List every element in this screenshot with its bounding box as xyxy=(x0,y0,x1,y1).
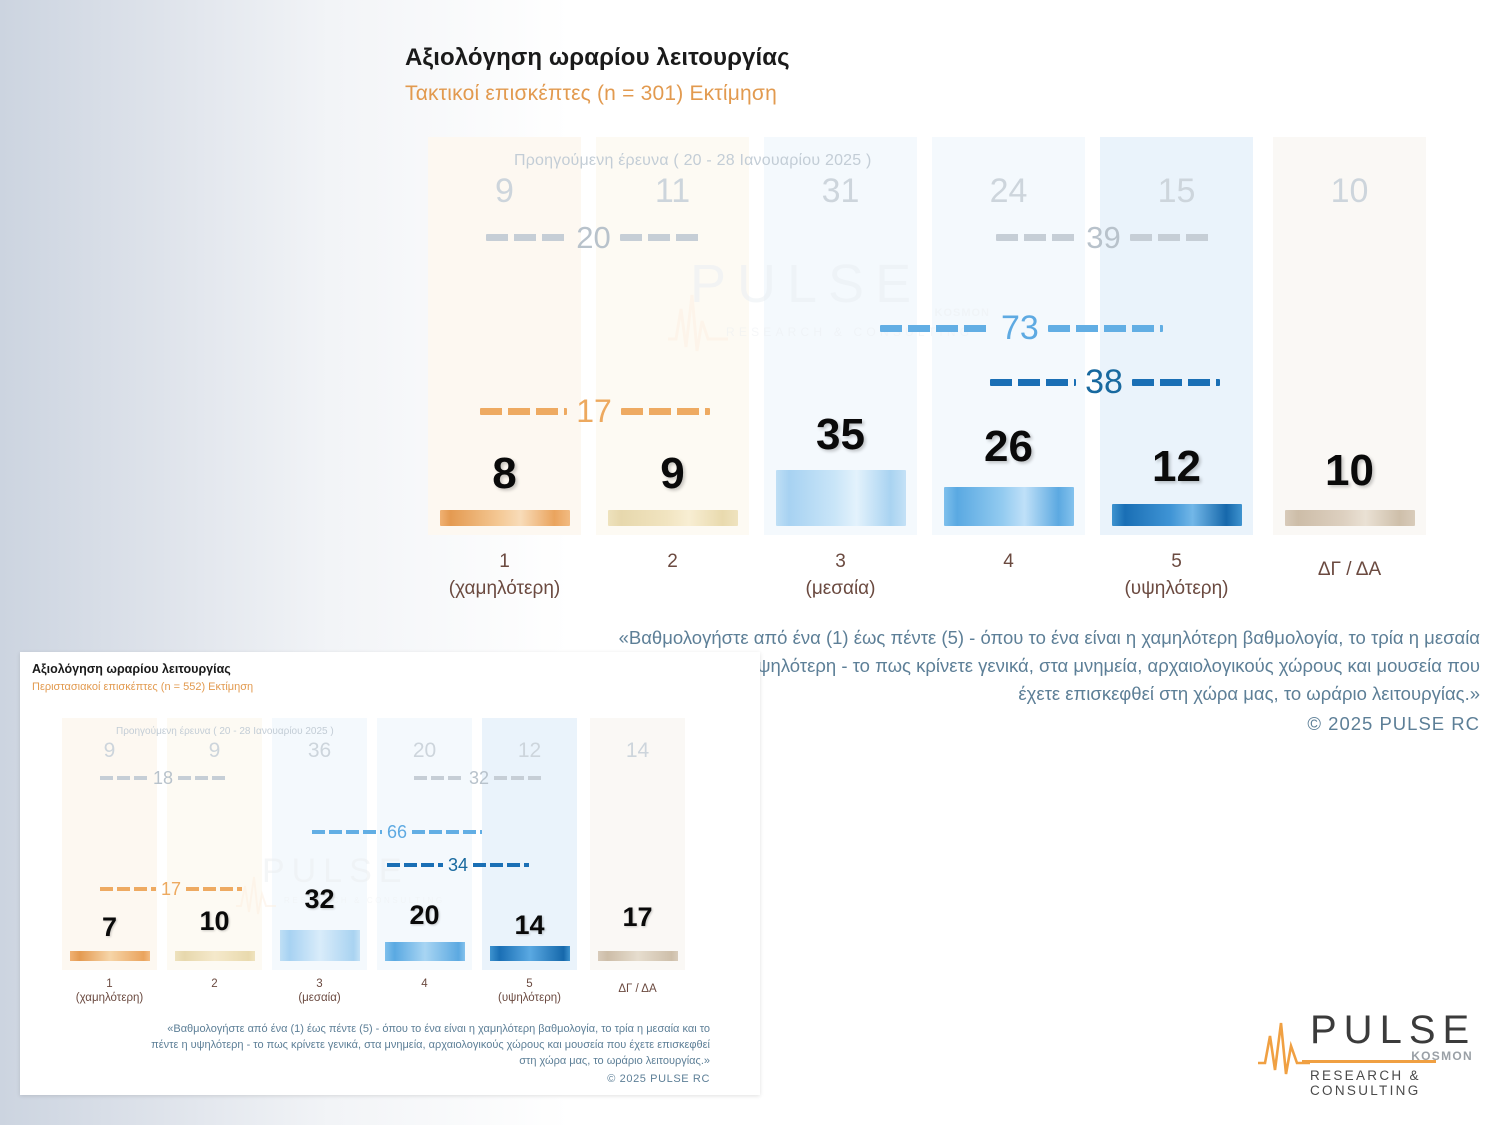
slide-thumbnail-inset[interactable]: Αξιολόγηση ωραρίου λειτουργίας Περιστασι… xyxy=(20,652,760,1095)
pulse-wave-icon xyxy=(1258,1018,1310,1080)
inset-previous-bracket-1-2: 18 xyxy=(100,769,230,787)
x-axis-label-3-number: 3 xyxy=(835,551,846,572)
inset-x-axis-label-4-number: 4 xyxy=(421,978,427,990)
previous-bracket-4-5: 39 xyxy=(996,222,1211,253)
page-title: Αξιολόγηση ωραρίου λειτουργίας xyxy=(405,44,790,72)
inset-value-label-3: 32 xyxy=(272,886,367,913)
inset-previous-survey-caption: Προηγούμενη έρευνα ( 20 - 28 Ιανουαρίου … xyxy=(116,726,334,737)
inset-chart-plot-area: PULSE RESEARCH & CONSULTING Προηγούμενη … xyxy=(62,718,714,970)
value-label-5: 12 xyxy=(1100,445,1253,489)
inset-value-label-1: 7 xyxy=(62,914,157,941)
x-axis-label-2-number: 2 xyxy=(667,551,678,572)
bar-5 xyxy=(1112,504,1242,526)
previous-value-1: 9 xyxy=(428,172,581,211)
inset-value-label-2: 10 xyxy=(167,908,262,935)
inset-x-axis-label-6: ΔΓ / ΔΑ xyxy=(590,982,685,996)
previous-value-2: 11 xyxy=(596,172,749,211)
inset-bar-5 xyxy=(490,946,570,961)
inset-x-axis-label-3: 3 (μεσαία) xyxy=(272,977,367,1006)
inset-x-axis-label-5-sub: (υψηλότερη) xyxy=(482,991,577,1005)
x-axis-label-1-sub: (χαμηλότερη) xyxy=(428,577,581,601)
inset-x-axis-label-5: 5 (υψηλότερη) xyxy=(482,977,577,1006)
inset-bar-3 xyxy=(280,930,360,961)
bar-6 xyxy=(1285,510,1415,526)
inset-bar-2 xyxy=(175,951,255,961)
bracket-73-value: 73 xyxy=(992,311,1048,345)
inset-previous-bracket-4-5-value: 32 xyxy=(464,769,494,787)
inset-x-axis-label-3-sub: (μεσαία) xyxy=(272,991,367,1005)
logo-kosmon: KOSMON xyxy=(1411,1049,1473,1063)
x-axis-label-5-sub: (υψηλότερη) xyxy=(1100,577,1253,601)
bracket-73-cols-3-5: 73 xyxy=(880,311,1165,345)
inset-bracket-34-cols-4-5: 34 xyxy=(387,856,535,874)
previous-value-5: 15 xyxy=(1100,172,1253,211)
inset-previous-bracket-4-5: 32 xyxy=(414,769,548,787)
bracket-17-value: 17 xyxy=(567,395,621,427)
inset-x-axis-label-1: 1 (χαμηλότερη) xyxy=(62,977,157,1006)
inset-question-text-block: «Βαθμολογήστε από ένα (1) έως πέντε (5) … xyxy=(150,1022,710,1088)
inset-x-axis-label-3-number: 3 xyxy=(316,978,322,990)
previous-bracket-1-2: 20 xyxy=(486,222,701,253)
previous-value-4: 24 xyxy=(932,172,1085,211)
inset-bracket-17-cols-1-2: 17 xyxy=(100,880,248,898)
inset-bar-1 xyxy=(70,951,150,961)
inset-x-axis-label-1-number: 1 xyxy=(106,978,112,990)
previous-bracket-1-2-value: 20 xyxy=(567,222,619,253)
inset-bar-6 xyxy=(598,951,678,961)
inset-x-axis-label-1-sub: (χαμηλότερη) xyxy=(62,991,157,1005)
title-block: Αξιολόγηση ωραρίου λειτουργίας Τακτικοί … xyxy=(405,44,790,106)
x-axis-label-1-number: 1 xyxy=(499,551,510,572)
pulse-logo: PULSE KOSMON RESEARCH & CONSULTING xyxy=(1258,1008,1473,1090)
inset-copyright-text: © 2025 PULSE RC xyxy=(150,1072,710,1088)
inset-title: Αξιολόγηση ωραρίου λειτουργίας xyxy=(32,662,231,676)
previous-survey-caption: Προηγούμενη έρευνα ( 20 - 28 Ιανουαρίου … xyxy=(514,152,872,170)
inset-x-axis-label-5-number: 5 xyxy=(526,978,532,990)
inset-previous-bracket-1-2-value: 18 xyxy=(148,769,178,787)
inset-x-axis-label-2-number: 2 xyxy=(211,978,217,990)
bar-2 xyxy=(608,510,738,526)
inset-bracket-17-value: 17 xyxy=(156,880,186,898)
bar-4 xyxy=(944,487,1074,526)
chart-plot-area: PULSE KOSMON RESEARCH & CONSULTING Προηγ… xyxy=(428,137,1471,535)
previous-value-3: 31 xyxy=(764,172,917,211)
inset-subtitle: Περιστασιακοί επισκέπτες (n = 552) Εκτίμ… xyxy=(32,681,253,693)
inset-x-axis-label-6-number: ΔΓ / ΔΑ xyxy=(618,983,656,995)
value-label-2: 9 xyxy=(596,452,749,496)
bracket-17-cols-1-2: 17 xyxy=(480,395,710,427)
value-label-6: 10 xyxy=(1273,449,1426,493)
previous-bracket-4-5-value: 39 xyxy=(1077,222,1129,253)
inset-x-axis-label-2: 2 xyxy=(167,977,262,991)
inset-bracket-66-cols-3-5: 66 xyxy=(312,823,492,841)
logo-tagline: RESEARCH & CONSULTING xyxy=(1310,1068,1473,1098)
inset-previous-value-2: 9 xyxy=(167,739,262,763)
inset-bar-4 xyxy=(385,942,465,961)
bar-1 xyxy=(440,510,570,526)
inset-value-label-5: 14 xyxy=(482,912,577,939)
value-label-3: 35 xyxy=(764,413,917,457)
x-axis-label-3: 3 (μεσαία) xyxy=(764,550,917,601)
inset-bracket-34-value: 34 xyxy=(443,856,473,874)
x-axis-label-1: 1 (χαμηλότερη) xyxy=(428,550,581,601)
x-axis-label-4: 4 xyxy=(932,550,1085,574)
inset-value-label-4: 20 xyxy=(377,902,472,929)
bracket-38-cols-4-5: 38 xyxy=(990,365,1220,399)
x-axis-label-4-number: 4 xyxy=(1003,551,1014,572)
inset-previous-value-5: 12 xyxy=(482,739,577,763)
inset-previous-value-4: 20 xyxy=(377,739,472,763)
inset-value-label-6: 17 xyxy=(590,904,685,931)
value-label-4: 26 xyxy=(932,425,1085,469)
value-label-1: 8 xyxy=(428,452,581,496)
inset-previous-value-3: 36 xyxy=(272,739,367,763)
previous-value-6: 10 xyxy=(1273,172,1426,211)
x-axis-label-2: 2 xyxy=(596,550,749,574)
x-axis-label-3-sub: (μεσαία) xyxy=(764,577,917,601)
x-axis-label-5-number: 5 xyxy=(1171,551,1182,572)
inset-bracket-66-value: 66 xyxy=(382,823,412,841)
inset-x-axis-label-4: 4 xyxy=(377,977,472,991)
page-subtitle: Τακτικοί επισκέπτες (n = 301) Εκτίμηση xyxy=(405,82,790,106)
bracket-38-value: 38 xyxy=(1076,365,1132,399)
logo-wordmark: PULSE xyxy=(1310,1010,1476,1050)
x-axis-label-6-number: ΔΓ / ΔΑ xyxy=(1318,559,1381,580)
inset-previous-value-6: 14 xyxy=(590,739,685,763)
x-axis-label-6: ΔΓ / ΔΑ xyxy=(1273,558,1426,582)
inset-question-text: «Βαθμολογήστε από ένα (1) έως πέντε (5) … xyxy=(151,1023,710,1067)
inset-previous-value-1: 9 xyxy=(62,739,157,763)
bar-3 xyxy=(776,470,906,526)
x-axis-label-5: 5 (υψηλότερη) xyxy=(1100,550,1253,601)
